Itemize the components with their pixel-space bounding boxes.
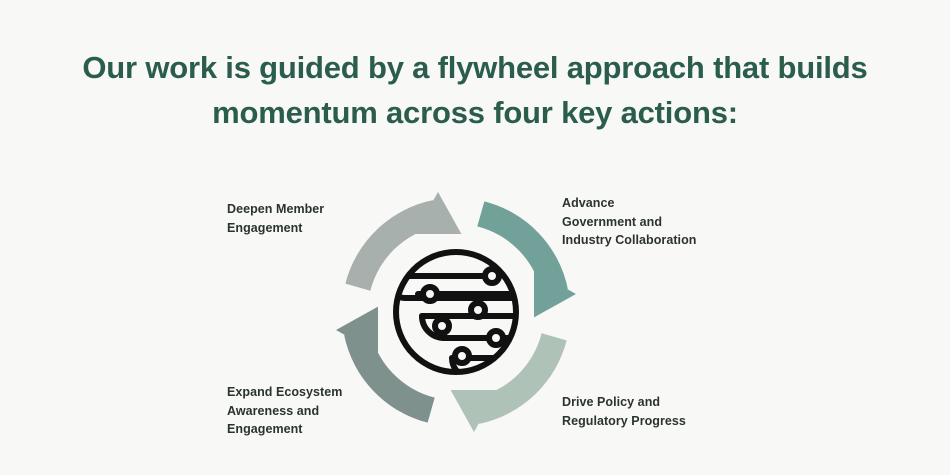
label-bl-line-1: Expand Ecosystem [227, 383, 342, 402]
slide-root: Our work is guided by a flywheel approac… [0, 0, 950, 475]
circuit-technology-icon [384, 252, 528, 378]
flywheel-diagram: Deepen Member Engagement Advance Governm… [0, 0, 950, 475]
label-tr-line-1: Advance [562, 194, 696, 213]
label-br-line-2: Regulatory Progress [562, 412, 686, 431]
arrow-bottom-left [336, 307, 435, 423]
label-drive-policy-regulatory-progress: Drive Policy and Regulatory Progress [562, 393, 686, 430]
label-br-line-1: Drive Policy and [562, 393, 686, 412]
label-deepen-member-engagement: Deepen Member Engagement [227, 200, 324, 237]
label-bl-line-2: Awareness and [227, 402, 342, 421]
label-advance-government-industry-collaboration: Advance Government and Industry Collabor… [562, 194, 696, 250]
label-expand-ecosystem-awareness-engagement: Expand Ecosystem Awareness and Engagemen… [227, 383, 342, 439]
flywheel-arrows-graphic [320, 160, 592, 460]
label-tl-line-1: Deepen Member [227, 200, 324, 219]
label-bl-line-3: Engagement [227, 420, 342, 439]
label-tr-line-2: Government and [562, 213, 696, 232]
label-tr-line-3: Industry Collaboration [562, 231, 696, 250]
label-tl-line-2: Engagement [227, 219, 324, 238]
